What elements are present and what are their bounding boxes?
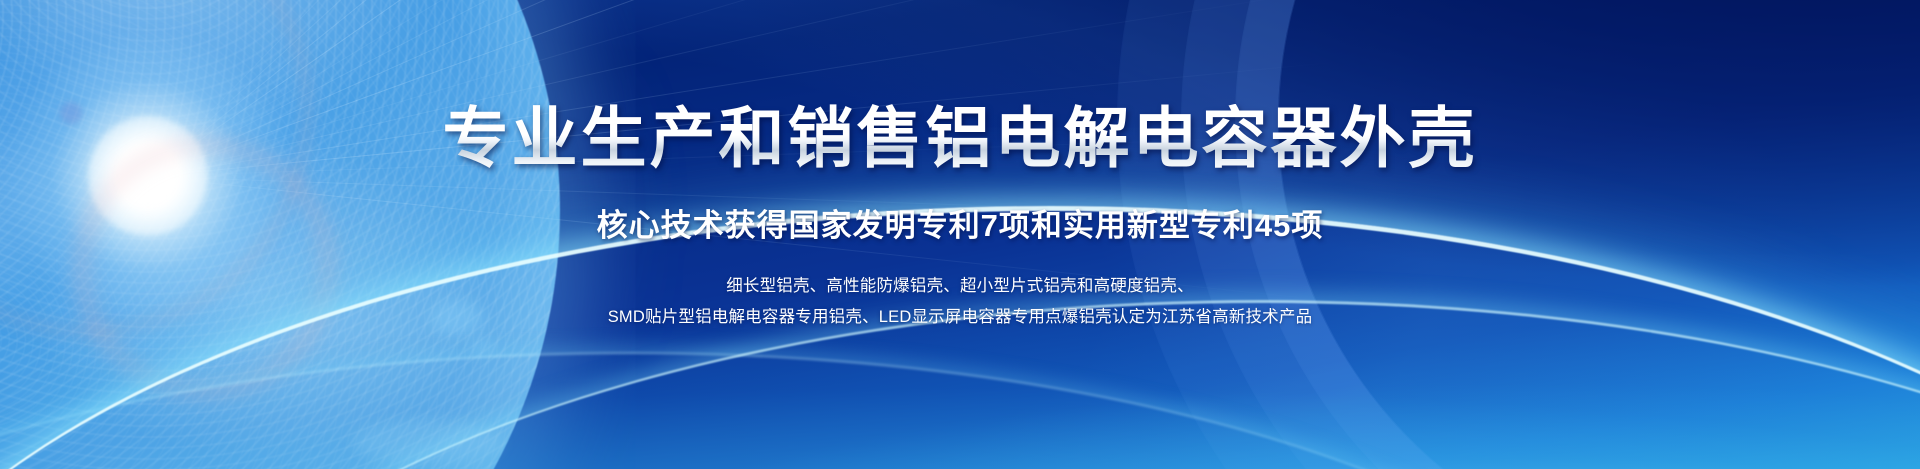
banner-description: 细长型铝壳、高性能防爆铝壳、超小型片式铝壳和高硬度铝壳、 SMD贴片型铝电解电容… [608, 271, 1313, 332]
banner-subheadline: 核心技术获得国家发明专利7项和实用新型专利45项 [597, 200, 1324, 245]
banner-description-line-2: SMD贴片型铝电解电容器专用铝壳、LED显示屏电容器专用点爆铝壳认定为江苏省高新… [608, 302, 1313, 333]
banner-content: 专业生产和销售铝电解电容器外壳 核心技术获得国家发明专利7项和实用新型专利45项… [0, 0, 1920, 469]
banner-headline: 专业生产和销售铝电解电容器外壳 [443, 104, 1478, 174]
banner-description-line-1: 细长型铝壳、高性能防爆铝壳、超小型片式铝壳和高硬度铝壳、 [608, 271, 1313, 302]
hero-banner: 专业生产和销售铝电解电容器外壳 核心技术获得国家发明专利7项和实用新型专利45项… [0, 0, 1920, 469]
